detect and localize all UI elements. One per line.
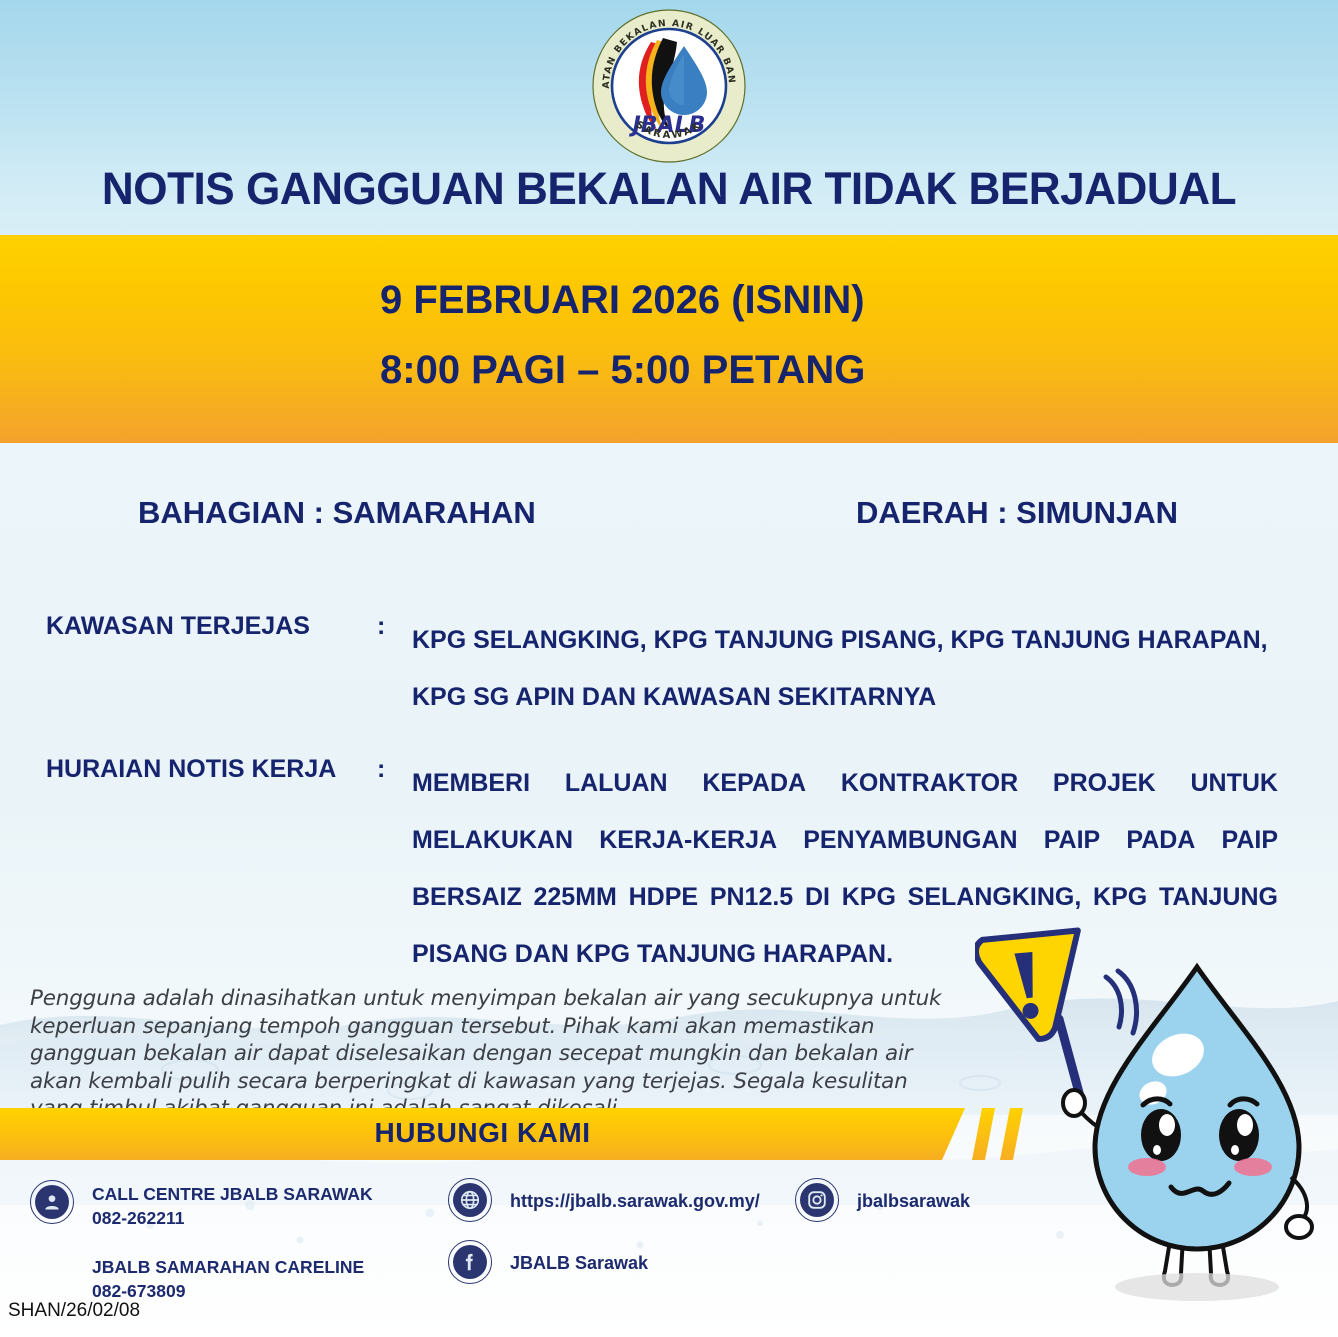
district-label: DAERAH : SIMUNJAN [856, 495, 1178, 531]
mascot-body [1095, 967, 1299, 1249]
work-description-label: HURAIAN NOTIS KERJA [46, 755, 336, 784]
sign-handle [1059, 1019, 1081, 1100]
globe-icon [448, 1178, 492, 1222]
advisory-paragraph: Pengguna adalah dinasihatkan untuk menyi… [30, 985, 955, 1123]
water-droplet-mascot [975, 915, 1338, 1315]
division-label: BAHAGIAN : SAMARAHAN [138, 495, 536, 531]
facebook-icon [448, 1240, 492, 1284]
website-url[interactable]: https://jbalb.sarawak.gov.my/ [510, 1189, 760, 1213]
careline-name: JBALB SAMARAHAN CARELINE [92, 1257, 364, 1277]
person-icon [30, 1180, 74, 1224]
mascot-eye-left [1141, 1109, 1181, 1161]
notice-poster: JBALB JABATAN BEKALAN AIR LUAR BANDAR SA… [0, 0, 1338, 1337]
warning-triangle-icon [975, 927, 1092, 1047]
facebook-handle[interactable]: JBALB Sarawak [510, 1251, 648, 1275]
affected-areas-label: KAWASAN TERJEJAS [46, 612, 310, 641]
work-description-line-2: MELAKUKANKERJA-KERJAPENYAMBUNGANPAIPPADA… [412, 812, 1278, 869]
contact-banner-label: HUBUNGI KAMI [0, 1117, 965, 1149]
reference-code: SHAN/26/02/08 [8, 1300, 140, 1322]
call-centre-name: CALL CENTRE JBALB SARAWAK [92, 1184, 373, 1204]
careline-text: JBALB SAMARAHAN CARELINE 082-673809 [92, 1255, 364, 1303]
header-banner: JBALB JABATAN BEKALAN AIR LUAR BANDAR SA… [0, 0, 1338, 235]
instagram-icon [795, 1178, 839, 1222]
date-band [0, 235, 1338, 443]
call-centre-phone: 082-262211 [92, 1206, 373, 1230]
work-description-colon: : [377, 755, 385, 784]
region-row: BAHAGIAN : SAMARAHAN DAERAH : SIMUNJAN [0, 495, 1338, 540]
call-centre-text: CALL CENTRE JBALB SARAWAK 082-262211 [92, 1182, 373, 1230]
affected-areas-line-1: KPG SELANGKING, KPG TANJUNG PISANG, KPG … [412, 612, 1278, 669]
affected-areas-colon: : [377, 612, 385, 641]
page-title: NOTIS GANGGUAN BEKALAN AIR TIDAK BERJADU… [13, 163, 1324, 215]
mascot-hand-left [1063, 1090, 1085, 1116]
work-description-line-1: MEMBERILALUANKEPADAKONTRAKTORPROJEKUNTUK [412, 755, 1278, 812]
instagram-handle[interactable]: jbalbsarawak [857, 1189, 970, 1213]
jbalb-logo: JBALB JABATAN BEKALAN AIR LUAR BANDAR SA… [589, 6, 749, 166]
notice-time-range: 8:00 PAGI – 5:00 PETANG [380, 348, 865, 393]
notice-date: 9 FEBRUARI 2026 (ISNIN) [380, 278, 865, 323]
affected-areas-value: KPG SELANGKING, KPG TANJUNG PISANG, KPG … [412, 612, 1278, 726]
mascot-hand-right [1286, 1216, 1312, 1238]
affected-areas-line-2: KPG SG APIN DAN KAWASAN SEKITARNYA [412, 669, 1278, 726]
mascot-eye-right [1219, 1109, 1259, 1161]
